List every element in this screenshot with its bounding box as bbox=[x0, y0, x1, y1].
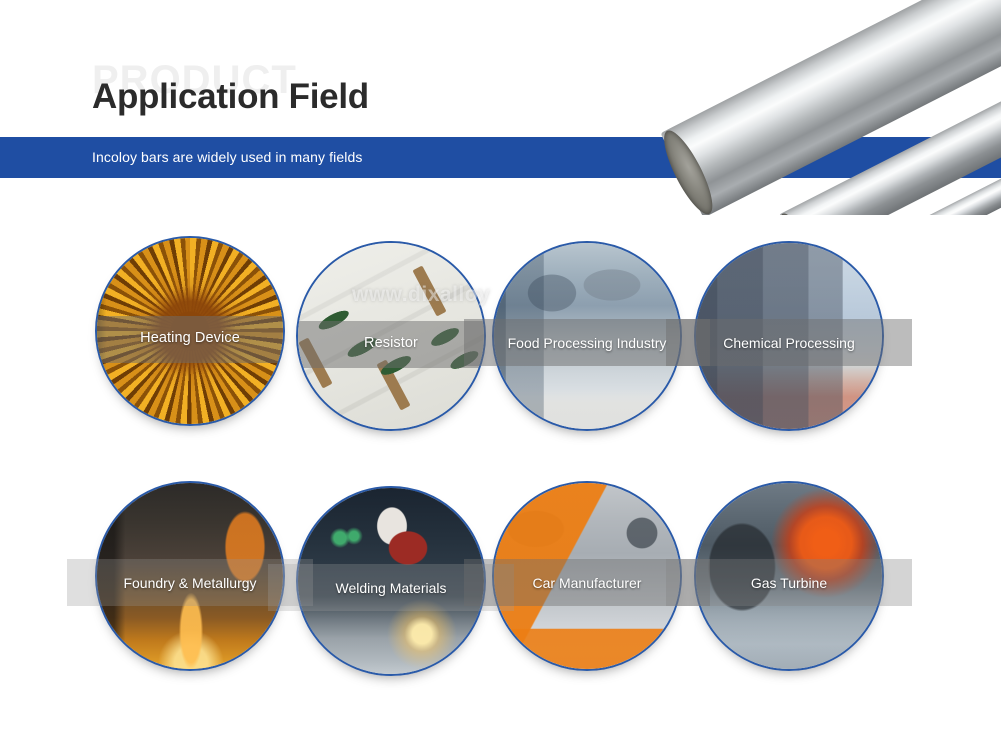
tile-label: Gas Turbine bbox=[666, 559, 912, 606]
application-tile-food-processing-industry[interactable]: Food Processing Industry bbox=[492, 241, 682, 431]
application-tile-gas-turbine[interactable]: Gas Turbine bbox=[694, 481, 884, 671]
tile-label: Heating Device bbox=[95, 314, 285, 361]
application-field-slide: PRODUCT Application Field Incoloy bars a… bbox=[0, 0, 1001, 737]
application-tile-heating-device[interactable]: Heating Device bbox=[95, 236, 285, 426]
application-tile-car-manufacturer[interactable]: Car Manufacturer bbox=[492, 481, 682, 671]
application-tile-welding-materials[interactable]: Welding Materials bbox=[296, 486, 486, 676]
tile-label: Resistor bbox=[296, 319, 486, 366]
application-tile-resistor[interactable]: Resistor bbox=[296, 241, 486, 431]
application-tiles-grid: Heating Device Resistor Food Processing … bbox=[0, 0, 1001, 737]
tile-label: Chemical Processing bbox=[666, 319, 912, 366]
application-tile-foundry-metallurgy[interactable]: Foundry & Metallurgy bbox=[95, 481, 285, 671]
subtitle-text: Incoloy bars are widely used in many fie… bbox=[92, 149, 362, 165]
application-tile-chemical-processing[interactable]: Chemical Processing bbox=[694, 241, 884, 431]
